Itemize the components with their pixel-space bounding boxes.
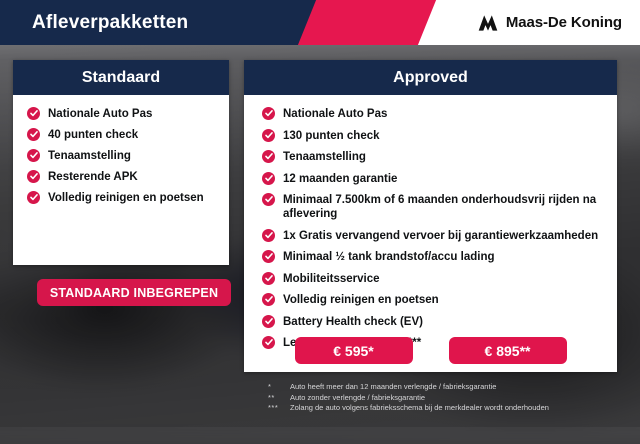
- check-circle-icon: [262, 250, 275, 263]
- check-circle-icon: [262, 272, 275, 285]
- page-header: Afleverpakketten Maas-De Koning: [0, 0, 640, 45]
- feature-text: Minimaal 7.500km of 6 maanden onderhouds…: [283, 193, 603, 221]
- feature-text: Nationale Auto Pas: [48, 107, 152, 121]
- feature-list-standaard: Nationale Auto Pas 40 punten check Tenaa…: [13, 107, 229, 205]
- footnote-text: Auto heeft meer dan 12 maanden verlengde…: [290, 382, 618, 393]
- footnote-text: Zolang de auto volgens fabrieksschema bi…: [290, 403, 618, 414]
- feature-text: Volledig reinigen en poetsen: [48, 191, 204, 205]
- check-circle-icon: [262, 293, 275, 306]
- page-title: Afleverpakketten: [32, 0, 188, 45]
- feature-text: 12 maanden garantie: [283, 172, 397, 186]
- check-circle-icon: [27, 149, 40, 162]
- list-item: Volledig reinigen en poetsen: [262, 293, 603, 307]
- check-circle-icon: [27, 107, 40, 120]
- feature-text: Volledig reinigen en poetsen: [283, 293, 439, 307]
- footnote-row: * Auto heeft meer dan 12 maanden verleng…: [268, 382, 618, 393]
- check-circle-icon: [262, 193, 275, 206]
- check-circle-icon: [262, 229, 275, 242]
- feature-text: Mobiliteitsservice: [283, 272, 380, 286]
- card-body-approved: Nationale Auto Pas 130 punten check Tena…: [244, 95, 617, 350]
- feature-text: Battery Health check (EV): [283, 315, 423, 329]
- header-pink-stripe: [292, 0, 440, 45]
- check-circle-icon: [27, 170, 40, 183]
- feature-text: Tenaamstelling: [48, 149, 131, 163]
- feature-text: Tenaamstelling: [283, 150, 366, 164]
- maas-de-koning-m-logo-icon: [477, 14, 499, 32]
- footnote-marker: **: [268, 393, 290, 404]
- list-item: Mobiliteitsservice: [262, 272, 603, 286]
- feature-text: 40 punten check: [48, 128, 138, 142]
- check-circle-icon: [262, 129, 275, 142]
- list-item: Minimaal ½ tank brandstof/accu lading: [262, 250, 603, 264]
- check-circle-icon: [262, 150, 275, 163]
- package-card-approved: Approved Nationale Auto Pas 130 punten c…: [244, 60, 617, 372]
- standaard-inbegrepen-button[interactable]: STANDAARD INBEGREPEN: [37, 279, 231, 306]
- list-item: Nationale Auto Pas: [262, 107, 603, 121]
- list-item: Minimaal 7.500km of 6 maanden onderhouds…: [262, 193, 603, 221]
- package-card-standaard: Standaard Nationale Auto Pas 40 punten c…: [13, 60, 229, 265]
- price-button-group: € 595* € 895**: [244, 337, 617, 364]
- list-item: 1x Gratis vervangend vervoer bij garanti…: [262, 229, 603, 243]
- list-item: Tenaamstelling: [262, 150, 603, 164]
- list-item: 40 punten check: [27, 128, 219, 142]
- feature-text: Nationale Auto Pas: [283, 107, 387, 121]
- footnote-row: ** Auto zonder verlengde / fabrieksgaran…: [268, 393, 618, 404]
- list-item: 12 maanden garantie: [262, 172, 603, 186]
- card-body-standaard: Nationale Auto Pas 40 punten check Tenaa…: [13, 95, 229, 205]
- footnote-text: Auto zonder verlengde / fabrieksgarantie: [290, 393, 618, 404]
- brand-name: Maas-De Koning: [506, 14, 622, 31]
- footnotes: * Auto heeft meer dan 12 maanden verleng…: [268, 382, 618, 414]
- check-circle-icon: [262, 315, 275, 328]
- footnote-marker: *: [268, 382, 290, 393]
- list-item: Resterende APK: [27, 170, 219, 184]
- check-circle-icon: [27, 191, 40, 204]
- price-button-895[interactable]: € 895**: [449, 337, 567, 364]
- feature-list-approved: Nationale Auto Pas 130 punten check Tena…: [244, 107, 617, 350]
- feature-text: Minimaal ½ tank brandstof/accu lading: [283, 250, 495, 264]
- footnote-row: *** Zolang de auto volgens fabrieksschem…: [268, 403, 618, 414]
- list-item: Battery Health check (EV): [262, 315, 603, 329]
- price-button-595[interactable]: € 595*: [295, 337, 413, 364]
- check-circle-icon: [262, 107, 275, 120]
- check-circle-icon: [262, 172, 275, 185]
- feature-text: 1x Gratis vervangend vervoer bij garanti…: [283, 229, 598, 243]
- card-title-standaard: Standaard: [13, 60, 229, 95]
- brand-logo: Maas-De Koning: [477, 0, 622, 45]
- footnote-marker: ***: [268, 403, 290, 414]
- card-title-approved: Approved: [244, 60, 617, 95]
- feature-text: 130 punten check: [283, 129, 380, 143]
- feature-text: Resterende APK: [48, 170, 138, 184]
- list-item: Tenaamstelling: [27, 149, 219, 163]
- check-circle-icon: [27, 128, 40, 141]
- list-item: 130 punten check: [262, 129, 603, 143]
- list-item: Nationale Auto Pas: [27, 107, 219, 121]
- list-item: Volledig reinigen en poetsen: [27, 191, 219, 205]
